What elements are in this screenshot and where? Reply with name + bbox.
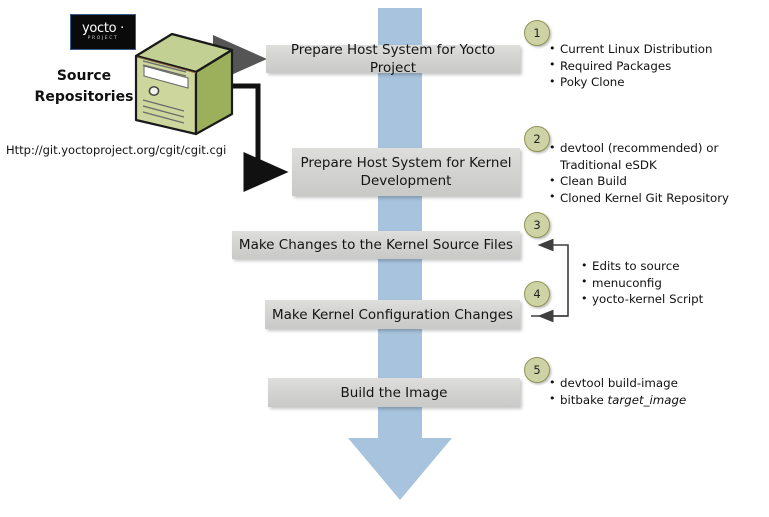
process-box-step-3[interactable]: Make Changes to the Kernel Source Files bbox=[232, 231, 520, 259]
note-item: Clean Build bbox=[548, 173, 729, 190]
note-item: devtool (recommended) or Traditional eSD… bbox=[548, 140, 728, 173]
yocto-logo-sub-text: PROJECT bbox=[88, 37, 119, 42]
note-item: yocto-kernel Script bbox=[580, 291, 703, 308]
process-box-label: Make Kernel Configuration Changes bbox=[272, 306, 513, 324]
note-item: Poky Clone bbox=[548, 74, 712, 91]
source-label-line2: Repositories bbox=[22, 87, 146, 108]
diagram-canvas: yocto · PROJECT Source Repositories Http… bbox=[0, 0, 769, 517]
process-box-step-5[interactable]: Build the Image bbox=[268, 378, 520, 407]
note-item-italic: target_image bbox=[608, 393, 687, 407]
note-item: Required Packages bbox=[548, 58, 712, 75]
process-box-step-4[interactable]: Make Kernel Configuration Changes bbox=[265, 300, 520, 329]
note-item: bitbake target_image bbox=[548, 392, 686, 409]
step-notes-2: devtool (recommended) or Traditional eSD… bbox=[548, 140, 729, 206]
step-badge-number: 2 bbox=[533, 132, 540, 146]
note-item: Edits to source bbox=[580, 258, 703, 275]
yocto-logo-main-text: yocto · bbox=[82, 22, 124, 35]
source-label-line1: Source bbox=[22, 66, 146, 87]
step-notes-1: Current Linux Distribution Required Pack… bbox=[548, 41, 712, 91]
server-tower-icon bbox=[132, 30, 236, 140]
process-box-label: Build the Image bbox=[341, 384, 448, 402]
process-box-label: Prepare Host System for Yocto Project bbox=[272, 41, 514, 77]
yocto-project-logo: yocto · PROJECT bbox=[70, 14, 136, 50]
step-badge-5: 5 bbox=[524, 357, 550, 383]
step-badge-number: 3 bbox=[533, 218, 540, 232]
step-notes-3-4: Edits to source menuconfig yocto-kernel … bbox=[580, 258, 703, 308]
step-badge-number: 4 bbox=[533, 287, 540, 301]
note-item: devtool build-image bbox=[548, 375, 686, 392]
source-repository-url: Http://git.yoctoproject.org/cgit/cgit.cg… bbox=[6, 143, 226, 157]
step-badge-3: 3 bbox=[524, 212, 550, 238]
step-badge-number: 5 bbox=[533, 363, 540, 377]
step-badge-2: 2 bbox=[524, 126, 550, 152]
note-item: Cloned Kernel Git Repository bbox=[548, 190, 729, 207]
process-box-label: Prepare Host System for Kernel Developme… bbox=[298, 154, 514, 190]
step-badge-number: 1 bbox=[533, 26, 540, 40]
source-repositories-label: Source Repositories bbox=[22, 66, 146, 108]
process-box-step-2[interactable]: Prepare Host System for Kernel Developme… bbox=[292, 148, 520, 196]
step-notes-5: devtool build-image bitbake target_image bbox=[548, 375, 686, 408]
process-box-label: Make Changes to the Kernel Source Files bbox=[239, 236, 513, 254]
step-badge-1: 1 bbox=[524, 20, 550, 46]
note-item: menuconfig bbox=[580, 275, 703, 292]
note-item: Current Linux Distribution bbox=[548, 41, 712, 58]
process-box-step-1[interactable]: Prepare Host System for Yocto Project bbox=[266, 45, 520, 73]
step-badge-4: 4 bbox=[524, 281, 550, 307]
